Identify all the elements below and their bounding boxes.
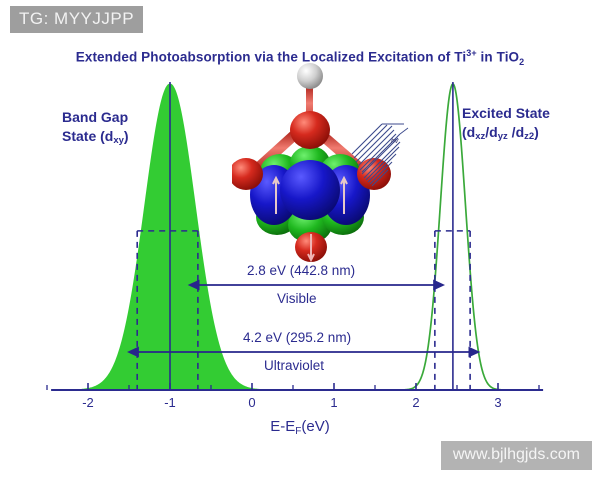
photon-energy-label: hv	[391, 138, 398, 145]
x-tick-label-0: -2	[82, 395, 94, 410]
x-tick-label-3: 1	[330, 395, 337, 410]
figure-canvas: TG: MYYJJPP Extended Photoabsorption via…	[0, 0, 600, 480]
hydrogen-atom	[297, 63, 323, 89]
x-axis-title: E-EF(eV)	[0, 418, 600, 437]
x-tick-label-5: 3	[494, 395, 501, 410]
uv-band-label: Ultraviolet	[264, 358, 324, 373]
x-tick-label-4: 2	[412, 395, 419, 410]
molecular-structure-illustration	[232, 62, 417, 262]
x-tick-label-1: -1	[164, 395, 176, 410]
orbital-blue-lobes	[250, 160, 370, 225]
visible-band-label: Visible	[277, 291, 317, 306]
watermark: www.bjlhgjds.com	[441, 441, 592, 470]
visible-transition-value: 2.8 eV (442.8 nm)	[247, 263, 355, 278]
oxygen-top	[290, 111, 330, 149]
fermi-subscript: F	[295, 426, 301, 437]
x-tick-label-2: 0	[248, 395, 255, 410]
uv-transition-value: 4.2 eV (295.2 nm)	[243, 330, 351, 345]
